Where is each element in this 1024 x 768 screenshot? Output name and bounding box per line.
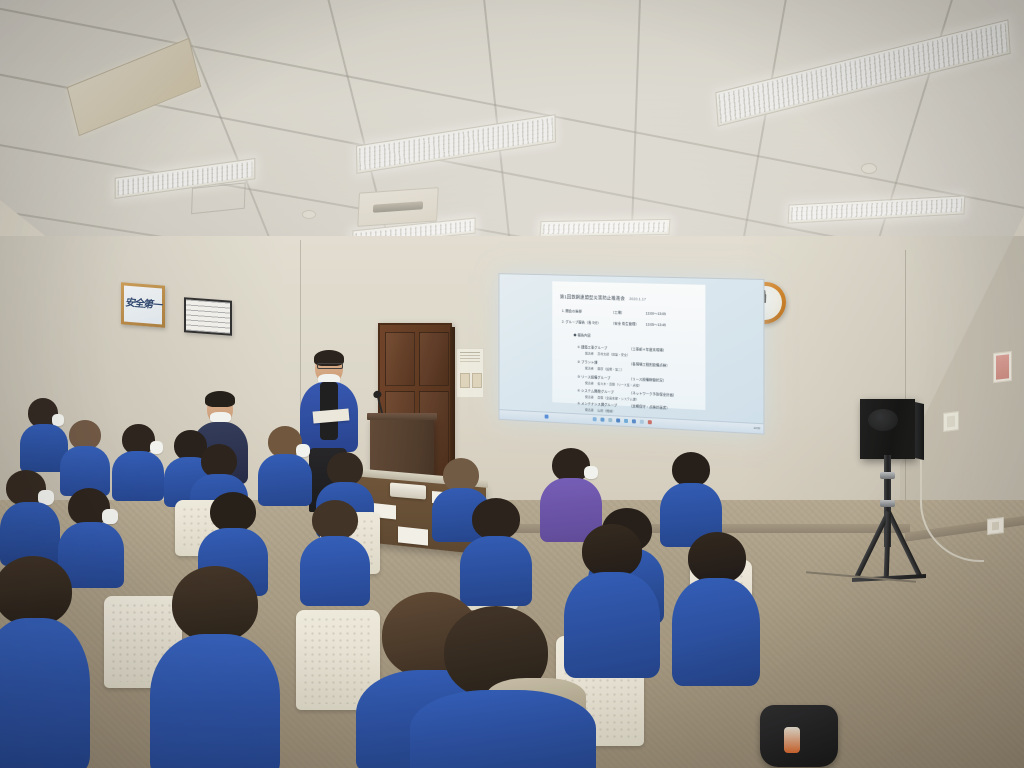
ceiling-troffer-light [115, 158, 256, 199]
ceiling-access-hatch [191, 182, 246, 214]
smoke-detector-icon [302, 210, 316, 219]
audience-member [0, 556, 90, 768]
calligraphy-frame: 安全第一 [121, 282, 165, 328]
start-icon[interactable] [545, 415, 549, 419]
tripod-collar [880, 472, 895, 479]
audience-member [0, 470, 60, 562]
meeting-room-photo: 安全第一 第1回鉄鋼連盟型災害防止推進会 2020.1.17 1. 開会の挨拶 … [0, 0, 1024, 768]
taskbar-clock: 13:02 [753, 426, 760, 429]
suspended-tile-ceiling [0, 0, 1024, 262]
slide-agenda-row: 2. グループ報告（各 5分） 〔安全 衛生管理〕 13:05〜13:45 [562, 320, 666, 329]
taskbar-app-icon[interactable] [593, 417, 597, 421]
slide-title-line: 第1回鉄鋼連盟型災害防止推進会 2020.1.17 [560, 294, 646, 302]
red-wall-poster [993, 351, 1012, 383]
audience-member [60, 420, 110, 492]
audience-member [112, 424, 164, 498]
audience-member [150, 566, 280, 768]
notice-card [472, 373, 482, 388]
presenter-glasses [317, 363, 343, 369]
taskbar-app-icon[interactable] [601, 418, 605, 422]
taskbar-app-icon[interactable] [624, 419, 628, 423]
audience-member [300, 500, 370, 602]
ceiling-air-vent [357, 187, 439, 227]
slide-title: 第1回鉄鋼連盟型災害防止推進会 [560, 294, 625, 301]
audience-member [564, 524, 660, 674]
taskbar-app-icon[interactable] [648, 420, 652, 424]
ceiling-panel-light [67, 38, 202, 136]
slide-item-sub: 発表者 藤原（設備・第二） [585, 366, 624, 372]
audience-member [460, 498, 532, 602]
tripod-collar [880, 500, 895, 507]
pa-speaker [860, 399, 915, 459]
taskbar-app-icon[interactable] [640, 420, 644, 424]
projection-screen: 第1回鉄鋼連盟型災害防止推進会 2020.1.17 1. 開会の挨拶 〔工場〕 … [499, 273, 765, 434]
assistant-hair [205, 391, 235, 407]
slide-agenda-row: 1. 開会の挨拶 〔工場〕 13:00〜13:05 [562, 309, 666, 317]
taskbar-app-icon[interactable] [616, 418, 620, 422]
paper-sheet [398, 526, 428, 545]
ceiling-troffer-light [356, 114, 556, 174]
notice-card [460, 373, 470, 388]
slide-item-sub: 発表者 高村太郎（建築・安全） [585, 351, 630, 357]
ceiling-troffer-light [715, 19, 1010, 127]
calligraphy-text: 安全第一 [124, 285, 162, 324]
audience-member [672, 532, 760, 682]
black-backpack [760, 705, 838, 767]
light-switch-plate[interactable] [943, 411, 959, 432]
ceiling-troffer-light [788, 195, 966, 223]
taskbar-app-icon[interactable] [632, 419, 636, 423]
audience-member [660, 452, 722, 544]
slide-date: 2020.1.17 [629, 297, 646, 301]
certificate-frame [184, 297, 232, 336]
slide-document: 第1回鉄鋼連盟型災害防止推進会 2020.1.17 1. 開会の挨拶 〔工場〕 … [552, 281, 705, 410]
slide-section-heading: ◆ 報告内容 [573, 333, 590, 339]
taskbar-app-icon[interactable] [608, 418, 612, 422]
slide-item-sub: 発表者 山田（機械） [585, 408, 615, 414]
power-outlet [987, 517, 1004, 535]
ceiling-speaker-icon [861, 163, 877, 174]
ceiling-troffer-light [539, 219, 670, 237]
wall-notice-board [456, 348, 484, 398]
pa-speaker-side [915, 402, 924, 460]
